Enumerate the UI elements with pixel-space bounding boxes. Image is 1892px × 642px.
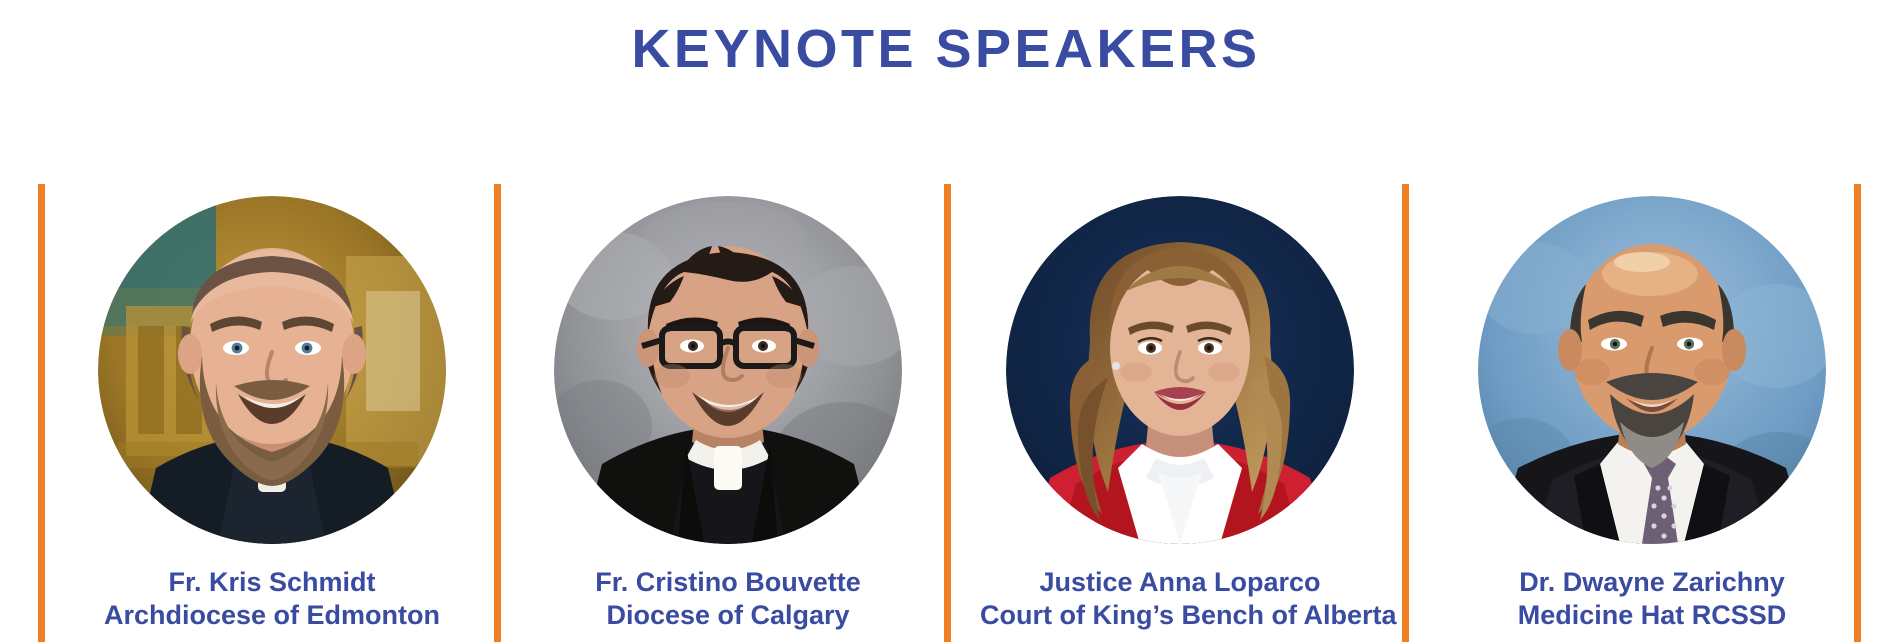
portrait-fr-cristino-bouvette xyxy=(554,196,902,544)
speaker-caption-1: Fr. Kris Schmidt Archdiocese of Edmonton xyxy=(72,566,472,633)
speaker-org-4: Medicine Hat RCSSD xyxy=(1452,599,1852,632)
speaker-caption-4: Dr. Dwayne Zarichny Medicine Hat RCSSD xyxy=(1452,566,1852,633)
divider-bar-3 xyxy=(944,184,951,642)
speaker-caption-2: Fr. Cristino Bouvette Diocese of Calgary xyxy=(528,566,928,633)
divider-bar-5 xyxy=(1854,184,1861,642)
divider-bar-1 xyxy=(38,184,45,642)
speaker-photo-2 xyxy=(554,196,902,544)
speaker-photo-4 xyxy=(1478,196,1826,544)
divider-bar-4 xyxy=(1402,184,1409,642)
keynote-speakers-banner: KEYNOTE SPEAKERS xyxy=(0,0,1892,642)
speaker-org-1: Archdiocese of Edmonton xyxy=(72,599,472,632)
divider-bar-2 xyxy=(494,184,501,642)
speaker-name-3: Justice Anna Loparco xyxy=(980,566,1380,599)
speaker-photo-1 xyxy=(98,196,446,544)
portrait-fr-kris-schmidt xyxy=(98,196,446,544)
speaker-card-2: Fr. Cristino Bouvette Diocese of Calgary xyxy=(528,196,928,633)
speaker-photo-3 xyxy=(1006,196,1354,544)
speaker-card-3: Justice Anna Loparco Court of King’s Ben… xyxy=(980,196,1380,633)
speaker-card-4: Dr. Dwayne Zarichny Medicine Hat RCSSD xyxy=(1452,196,1852,633)
page-title: KEYNOTE SPEAKERS xyxy=(0,18,1892,80)
speaker-name-4: Dr. Dwayne Zarichny xyxy=(1452,566,1852,599)
speaker-org-3: Court of King’s Bench of Alberta xyxy=(980,599,1380,632)
speaker-card-1: Fr. Kris Schmidt Archdiocese of Edmonton xyxy=(72,196,472,633)
portrait-justice-anna-loparco xyxy=(1006,196,1354,544)
portrait-dr-dwayne-zarichny xyxy=(1478,196,1826,544)
speaker-name-1: Fr. Kris Schmidt xyxy=(72,566,472,599)
speaker-org-2: Diocese of Calgary xyxy=(528,599,928,632)
speaker-name-2: Fr. Cristino Bouvette xyxy=(528,566,928,599)
speaker-caption-3: Justice Anna Loparco Court of King’s Ben… xyxy=(980,566,1380,633)
